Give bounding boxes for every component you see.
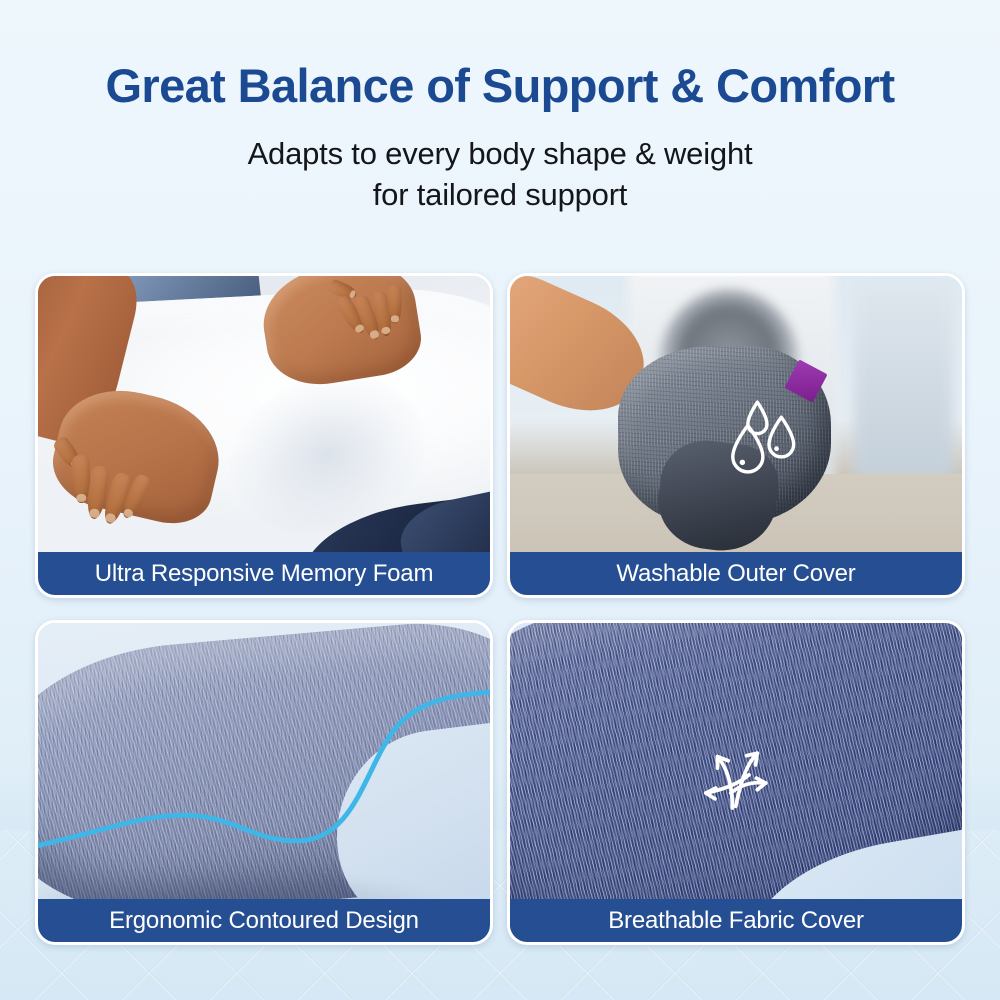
caption-contoured-design: Ergonomic Contoured Design [38,899,490,942]
subtitle-line-1: Adapts to every body shape & weight [248,136,753,171]
subtitle-line-2: for tailored support [373,177,627,212]
breathable-fabric-photo [510,623,962,942]
feature-card-washable-cover[interactable]: Washable Outer Cover [507,273,965,598]
contoured-design-photo [38,623,490,942]
caption-breathable-fabric: Breathable Fabric Cover [510,899,962,942]
washer-side-panel [854,282,953,480]
feature-card-contoured-design[interactable]: Ergonomic Contoured Design [35,620,493,945]
washable-cover-photo [510,276,962,595]
memory-foam-photo [38,276,490,595]
page-title: Great Balance of Support & Comfort [0,60,1000,112]
feature-card-breathable-fabric[interactable]: Breathable Fabric Cover [507,620,965,945]
contour-curve-icon [38,623,490,942]
header: Great Balance of Support & Comfort Adapt… [0,0,1000,216]
airflow-icon [686,735,785,818]
caption-memory-foam: Ultra Responsive Memory Foam [38,552,490,595]
feature-card-memory-foam[interactable]: Ultra Responsive Memory Foam [35,273,493,598]
water-drop-icon [700,394,818,490]
caption-washable-cover: Washable Outer Cover [510,552,962,595]
feature-grid: Ultra Responsive Memory Foam [35,273,965,945]
